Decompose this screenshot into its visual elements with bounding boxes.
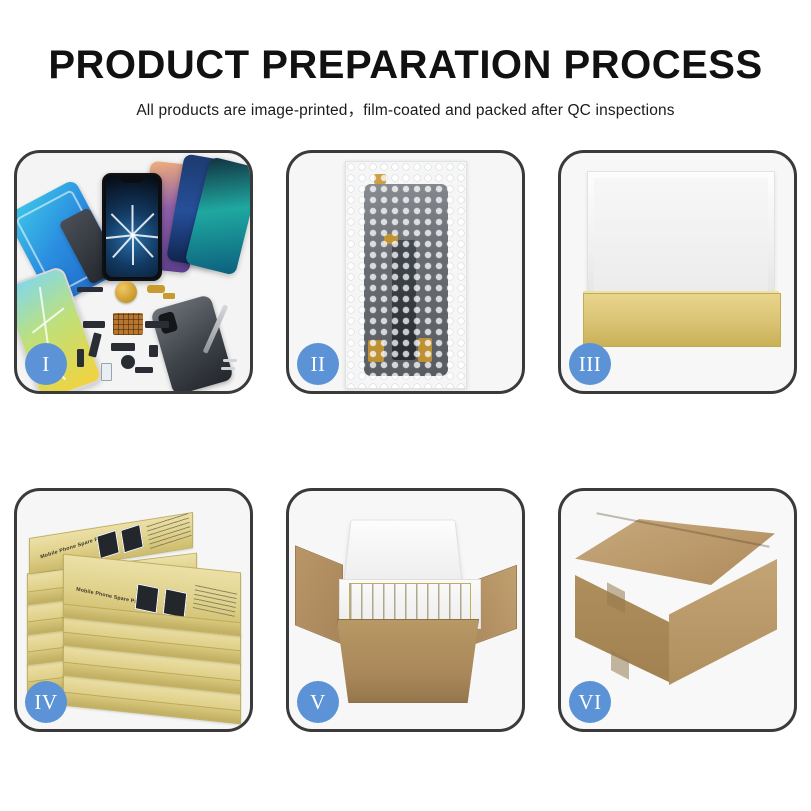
carton-body-open [337,619,479,703]
process-step-panel-6: VI [558,488,797,732]
process-steps-grid: I II [14,150,797,732]
gold-boxes-inside-carton [349,583,471,623]
speaker-part [111,343,135,351]
phone-glass [106,177,158,277]
process-step-panel-4: Mobile Phone Spare Parts Mobile Phone Sp… [14,488,253,732]
earpiece-part [77,287,103,292]
step-badge-1: I [25,343,67,385]
flex-cable-part-c [145,321,169,328]
spudger-tool [221,367,235,370]
screwdriver-bit [223,359,237,362]
gold-tab-lower-right [418,338,432,362]
box-artwork-square-a [96,530,120,559]
process-step-panel-2: II [286,150,525,394]
gold-tab-lower-left [368,340,384,362]
box-spec-lines-front [193,584,237,616]
step-badge-4: IV [25,681,67,723]
foam-lid-open [343,520,463,587]
camera-lens-part [115,281,137,303]
step-badge-6: VI [569,681,611,723]
gold-tab-mid [384,234,398,244]
process-step-panel-5: V [286,488,525,732]
gold-bracket-part [163,293,175,299]
gold-tab-top [374,174,386,184]
kraft-box-base [583,293,781,347]
box-spec-lines-back [146,513,191,549]
flex-cable-part-b [88,332,102,357]
step-badge-3: III [569,343,611,385]
phone-notch [121,177,143,183]
box-artwork-square-b [120,524,144,553]
process-step-panel-1: I [14,150,253,394]
wrapped-flex-cable [392,240,416,360]
sim-tray-part [149,345,158,357]
product-preparation-infographic: PRODUCT PREPARATION PROCESS All products… [0,0,811,811]
process-step-panel-3: III [558,150,797,394]
gold-connector-part [147,285,165,293]
flex-cable-part-a [83,321,105,328]
header: PRODUCT PREPARATION PROCESS All products… [0,0,811,120]
white-foam-lid [587,171,775,301]
step-badge-5: V [297,681,339,723]
page-title: PRODUCT PREPARATION PROCESS [0,44,811,87]
ic-chip-part [113,313,143,335]
button-part [77,349,84,367]
vibrator-motor-part [121,355,135,369]
page-subtitle: All products are image-printed，film-coat… [0,98,811,120]
bubble-wrap-bag [345,161,467,389]
phone-cracked-black [102,173,162,281]
step-badge-2: II [297,343,339,385]
antenna-part [135,367,153,373]
glass-lens-part [101,363,112,381]
carton-flap-left [295,545,343,644]
box-artwork-square-c [135,583,160,613]
